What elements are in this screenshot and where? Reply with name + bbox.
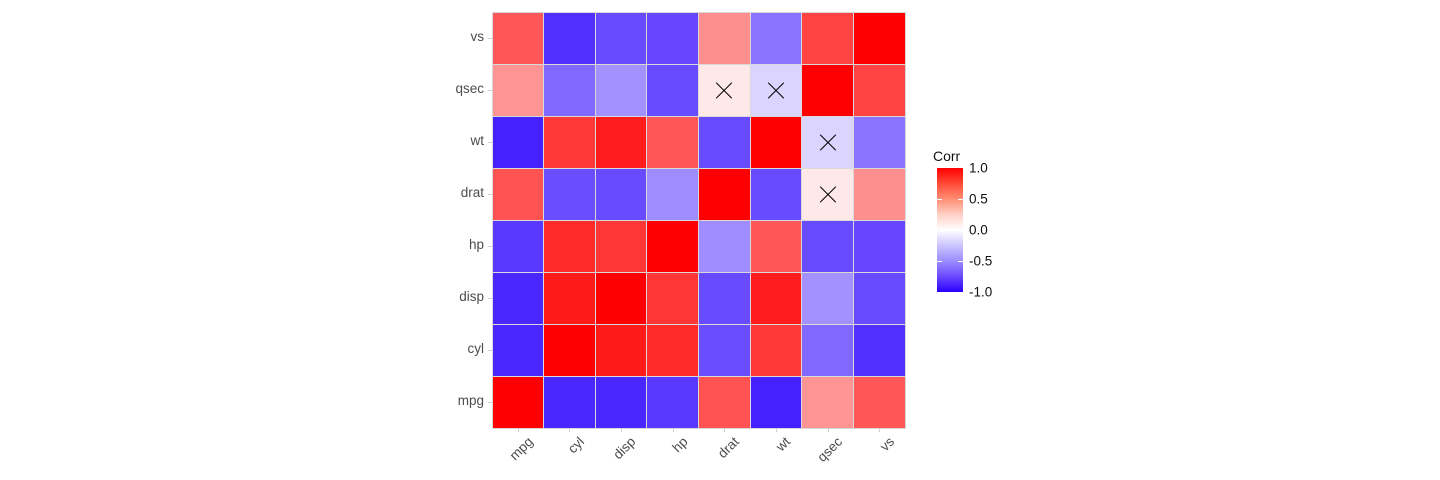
heatmap-cell xyxy=(853,324,906,377)
heatmap-cell xyxy=(646,64,699,117)
heatmap-cell xyxy=(853,12,906,65)
heatmap-cell xyxy=(698,64,751,117)
x-axis-tick xyxy=(776,428,777,432)
x-axis-tick xyxy=(569,428,570,432)
legend-tick-label: 1.0 xyxy=(969,161,988,176)
heatmap-cell xyxy=(853,220,906,273)
heatmap-cell xyxy=(698,376,751,429)
heatmap-cell-grid xyxy=(492,12,905,428)
heatmap-cell xyxy=(543,116,596,169)
heatmap-cell xyxy=(543,168,596,221)
heatmap-cell xyxy=(492,12,545,65)
heatmap-cell xyxy=(698,324,751,377)
legend-tick-label: 0.0 xyxy=(969,223,988,238)
heatmap-cell xyxy=(698,220,751,273)
heatmap-cell xyxy=(595,324,648,377)
correlation-heatmap-plot: vsqsecwtdrathpdispcylmpg mpgcyldisphpdra… xyxy=(0,0,1440,480)
heatmap-cell xyxy=(492,168,545,221)
y-axis-label-mpg: mpg xyxy=(384,393,484,408)
heatmap-cell xyxy=(750,168,803,221)
heatmap-cell xyxy=(801,272,854,325)
heatmap-cell xyxy=(801,12,854,65)
legend-colorbar xyxy=(937,168,963,292)
legend-tick-label: -1.0 xyxy=(969,285,992,300)
legend-title: Corr xyxy=(933,148,960,164)
not-significant-x-icon xyxy=(817,183,839,205)
heatmap-cell xyxy=(543,272,596,325)
heatmap-cell xyxy=(853,272,906,325)
heatmap-cell xyxy=(646,324,699,377)
heatmap-cell xyxy=(543,220,596,273)
heatmap-cell xyxy=(750,376,803,429)
x-axis-tick xyxy=(828,428,829,432)
heatmap-cell xyxy=(646,12,699,65)
not-significant-x-icon xyxy=(765,79,787,101)
heatmap-cell xyxy=(750,324,803,377)
heatmap-cell xyxy=(750,12,803,65)
heatmap-cell xyxy=(750,64,803,117)
y-axis-label-qsec: qsec xyxy=(384,81,484,96)
x-axis-label-disp: disp xyxy=(611,434,639,462)
heatmap-cell xyxy=(750,272,803,325)
heatmap-cell xyxy=(698,12,751,65)
heatmap-cell xyxy=(492,64,545,117)
x-axis-label-cyl: cyl xyxy=(565,434,587,456)
x-axis-tick xyxy=(673,428,674,432)
y-axis-label-cyl: cyl xyxy=(384,341,484,356)
not-significant-x-icon xyxy=(713,79,735,101)
legend-tick-label: 0.5 xyxy=(969,192,988,207)
heatmap-cell xyxy=(595,116,648,169)
heatmap-cell xyxy=(698,272,751,325)
heatmap-cell xyxy=(853,376,906,429)
x-axis-label-drat: drat xyxy=(715,434,742,461)
heatmap-cell xyxy=(543,376,596,429)
y-axis-label-disp: disp xyxy=(384,289,484,304)
legend-colorbar-tick xyxy=(937,261,942,262)
heatmap-cell xyxy=(698,168,751,221)
x-axis-label-hp: hp xyxy=(669,434,690,455)
heatmap-cell xyxy=(595,272,648,325)
x-axis-tick xyxy=(724,428,725,432)
heatmap-cell xyxy=(595,168,648,221)
heatmap-cell xyxy=(801,64,854,117)
x-axis-label-vs: vs xyxy=(877,434,897,454)
heatmap-cell xyxy=(801,116,854,169)
heatmap-cell xyxy=(646,272,699,325)
heatmap-cell xyxy=(750,220,803,273)
legend-colorbar-tick xyxy=(958,261,963,262)
heatmap-cell xyxy=(801,376,854,429)
heatmap-cell xyxy=(543,324,596,377)
x-axis-label-wt: wt xyxy=(773,434,793,454)
heatmap-cell xyxy=(646,220,699,273)
y-axis-label-hp: hp xyxy=(384,237,484,252)
heatmap-cell xyxy=(646,116,699,169)
heatmap-cell xyxy=(595,376,648,429)
legend-tick-label: -0.5 xyxy=(969,254,992,269)
x-axis-tick xyxy=(621,428,622,432)
y-axis: vsqsecwtdrathpdispcylmpg xyxy=(378,12,484,428)
heatmap-cell xyxy=(543,64,596,117)
heatmap-cell xyxy=(492,272,545,325)
heatmap-panel xyxy=(492,12,905,428)
y-axis-label-wt: wt xyxy=(384,133,484,148)
heatmap-cell xyxy=(853,168,906,221)
heatmap-cell xyxy=(801,324,854,377)
heatmap-cell xyxy=(595,220,648,273)
heatmap-cell xyxy=(853,116,906,169)
heatmap-cell xyxy=(750,116,803,169)
heatmap-cell xyxy=(543,12,596,65)
x-axis-tick xyxy=(879,428,880,432)
heatmap-cell xyxy=(646,376,699,429)
heatmap-cell xyxy=(492,116,545,169)
heatmap-cell xyxy=(801,168,854,221)
y-axis-label-drat: drat xyxy=(384,185,484,200)
heatmap-cell xyxy=(492,376,545,429)
heatmap-cell xyxy=(492,220,545,273)
x-axis-label-mpg: mpg xyxy=(506,434,535,463)
legend: Corr 1.00.50.0-0.5-1.0 xyxy=(933,148,1053,308)
x-axis-label-qsec: qsec xyxy=(814,434,845,465)
not-significant-x-icon xyxy=(817,131,839,153)
y-axis-label-vs: vs xyxy=(384,29,484,44)
heatmap-cell xyxy=(698,116,751,169)
legend-colorbar-tick xyxy=(958,199,963,200)
x-axis-tick xyxy=(518,428,519,432)
heatmap-cell xyxy=(595,12,648,65)
heatmap-cell xyxy=(853,64,906,117)
legend-colorbar-tick xyxy=(937,199,942,200)
heatmap-cell xyxy=(492,324,545,377)
heatmap-cell xyxy=(646,168,699,221)
legend-colorbar-gradient xyxy=(937,168,963,292)
heatmap-cell xyxy=(801,220,854,273)
heatmap-cell xyxy=(595,64,648,117)
